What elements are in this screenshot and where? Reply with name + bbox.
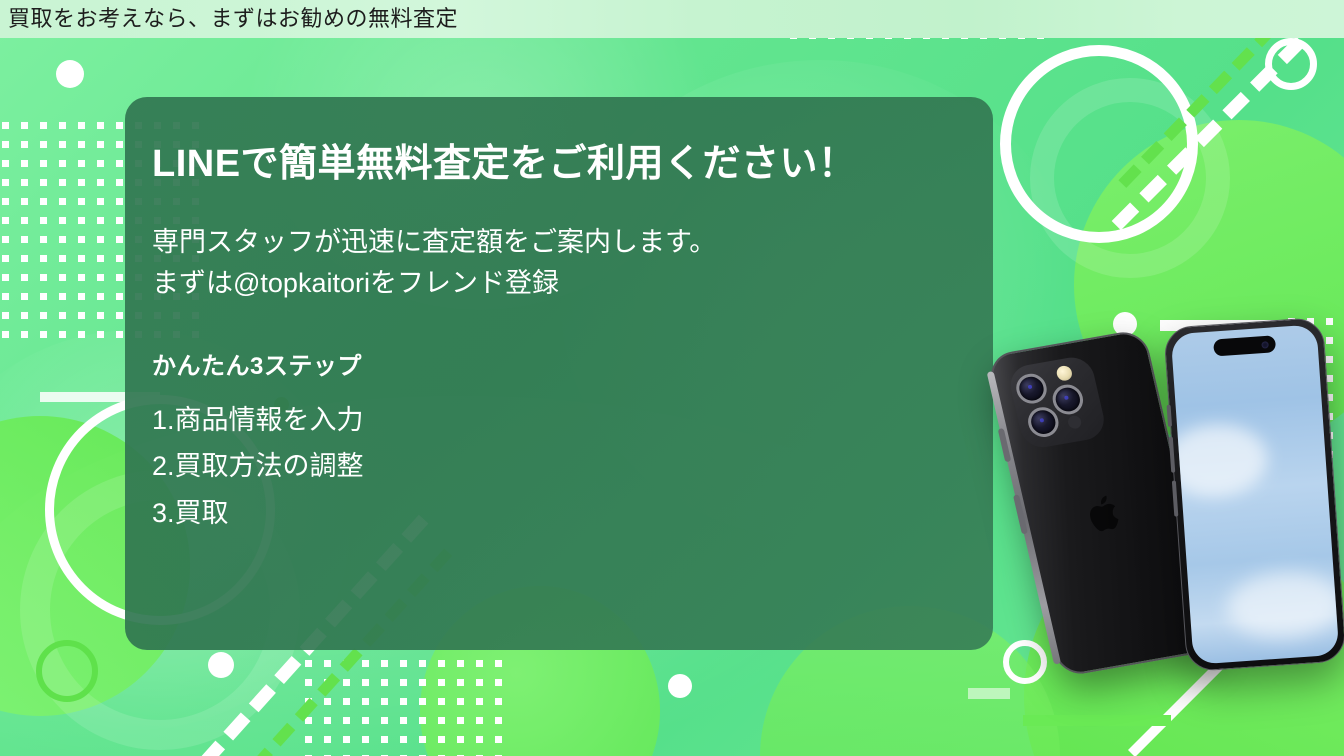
soft-ring-top-right [1030, 78, 1230, 278]
header-band: 買取をお考えなら、まずはお勧めの無料査定 [0, 0, 1344, 38]
white-ring-bottom-right [1003, 640, 1047, 684]
white-ring-small-corner [1265, 38, 1317, 90]
iphone-front-view [1163, 317, 1344, 672]
apple-logo-icon [1084, 491, 1127, 536]
volume-down-button-icon [1172, 480, 1179, 516]
step-item-1: 1.商品情報を入力 [152, 397, 993, 443]
phone-screen-wallpaper [1171, 324, 1340, 664]
banner-stage: LINEで簡単無料査定をご利用ください！ 専門スタッフが迅速に査定額をご案内しま… [0, 0, 1344, 756]
camera-lens-telephoto-icon [1050, 382, 1086, 416]
white-dotted-line-top-right [1112, 9, 1333, 230]
white-dot-top-left [56, 60, 84, 88]
promo-headline: LINEで簡単無料査定をご利用ください！ [152, 142, 993, 188]
green-bar-bottom-right [1023, 715, 1171, 726]
white-ring-top-right [1000, 45, 1198, 243]
promo-subtitle: 専門スタッフが迅速に査定額をご案内します。 まずは@topkaitoriをフレン… [152, 222, 993, 304]
promo-subtitle-line-1: 専門スタッフが迅速に査定額をご案内します。 [152, 222, 993, 263]
power-button-icon [1013, 494, 1028, 534]
volume-button-icon [998, 428, 1012, 462]
white-bar-bottom-center [968, 688, 1010, 699]
camera-lens-wide-icon [1013, 371, 1049, 405]
front-camera-icon [1261, 341, 1268, 348]
green-circle-top-right [1074, 120, 1344, 450]
promo-subtitle-line-2: まずは@topkaitoriをフレンド登録 [152, 263, 993, 304]
white-bar-top-right [1160, 320, 1312, 331]
camera-module [1006, 354, 1108, 450]
green-circle-bottom-right [1024, 516, 1344, 756]
volume-up-button-icon [1169, 437, 1176, 473]
camera-lens-ultrawide-icon [1025, 405, 1061, 439]
lidar-sensor-icon [1067, 415, 1083, 430]
white-dot-right [1113, 312, 1137, 336]
step-item-2: 2.買取方法の調整 [152, 443, 993, 489]
camera-flash-icon [1055, 365, 1073, 382]
step-item-3: 3.買取 [152, 490, 993, 536]
product-image-group [1000, 300, 1344, 756]
dynamic-island [1213, 335, 1276, 356]
promo-card: LINEで簡単無料査定をご利用ください！ 専門スタッフが迅速に査定額をご案内しま… [125, 97, 993, 650]
dot-grid-right [1288, 318, 1344, 546]
steps-heading: かんたん3ステップ [152, 346, 993, 381]
steps-list: 1.商品情報を入力 2.買取方法の調整 3.買取 [152, 397, 993, 536]
mute-switch-icon [1167, 405, 1173, 427]
white-diagonal-line-phone [1128, 637, 1248, 756]
header-title: 買取をお考えなら、まずはお勧めの無料査定 [0, 8, 458, 30]
iphone-back-view [986, 328, 1218, 677]
